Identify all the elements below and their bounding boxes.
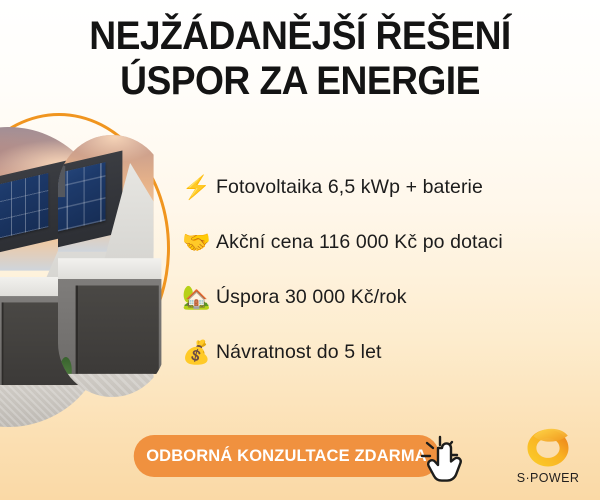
handshake-icon: 🤝	[182, 231, 216, 254]
money-bag-icon: 💰	[182, 341, 216, 364]
chimney	[58, 166, 65, 197]
list-item: 🏡 Úspora 30 000 Kč/rok	[182, 270, 582, 325]
advertisement-banner: NEJŽÁDANĚJŠÍ ŘEŠENÍ ÚSPOR ZA ENERGIE	[0, 0, 600, 500]
spower-ring-logo-icon	[525, 427, 571, 469]
gravel-driveway	[58, 374, 154, 397]
house-scene-right	[58, 135, 154, 397]
headline-line-1: NEJŽÁDANĚJŠÍ ŘEŠENÍ	[21, 14, 579, 59]
house-with-garden-icon: 🏡	[182, 286, 216, 309]
brand-wordmark: S·POWER	[512, 471, 584, 485]
list-item-label: Návratnost do 5 let	[216, 341, 382, 364]
list-item: 🤝 Akční cena 116 000 Kč po dotaci	[182, 215, 582, 270]
lightning-bolt-icon: ⚡	[182, 176, 216, 199]
benefit-list: ⚡ Fotovoltaika 6,5 kWp + baterie 🤝 Akční…	[182, 160, 582, 380]
list-item: ⚡ Fotovoltaika 6,5 kWp + baterie	[182, 160, 582, 215]
list-item-label: Fotovoltaika 6,5 kWp + baterie	[216, 176, 483, 199]
hero-artwork	[0, 95, 210, 425]
free-consultation-cta-button[interactable]: ODBORNÁ KONZULTACE ZDARMA	[134, 435, 440, 477]
house-photo-right	[58, 135, 166, 397]
brand-logo[interactable]: S·POWER	[512, 427, 584, 489]
list-item-label: Akční cena 116 000 Kč po dotaci	[216, 231, 503, 254]
page-title: NEJŽÁDANĚJŠÍ ŘEŠENÍ ÚSPOR ZA ENERGIE	[21, 14, 579, 104]
list-item: 💰 Návratnost do 5 let	[182, 325, 582, 380]
list-item-label: Úspora 30 000 Kč/rok	[216, 286, 407, 309]
garage-door	[75, 285, 159, 374]
